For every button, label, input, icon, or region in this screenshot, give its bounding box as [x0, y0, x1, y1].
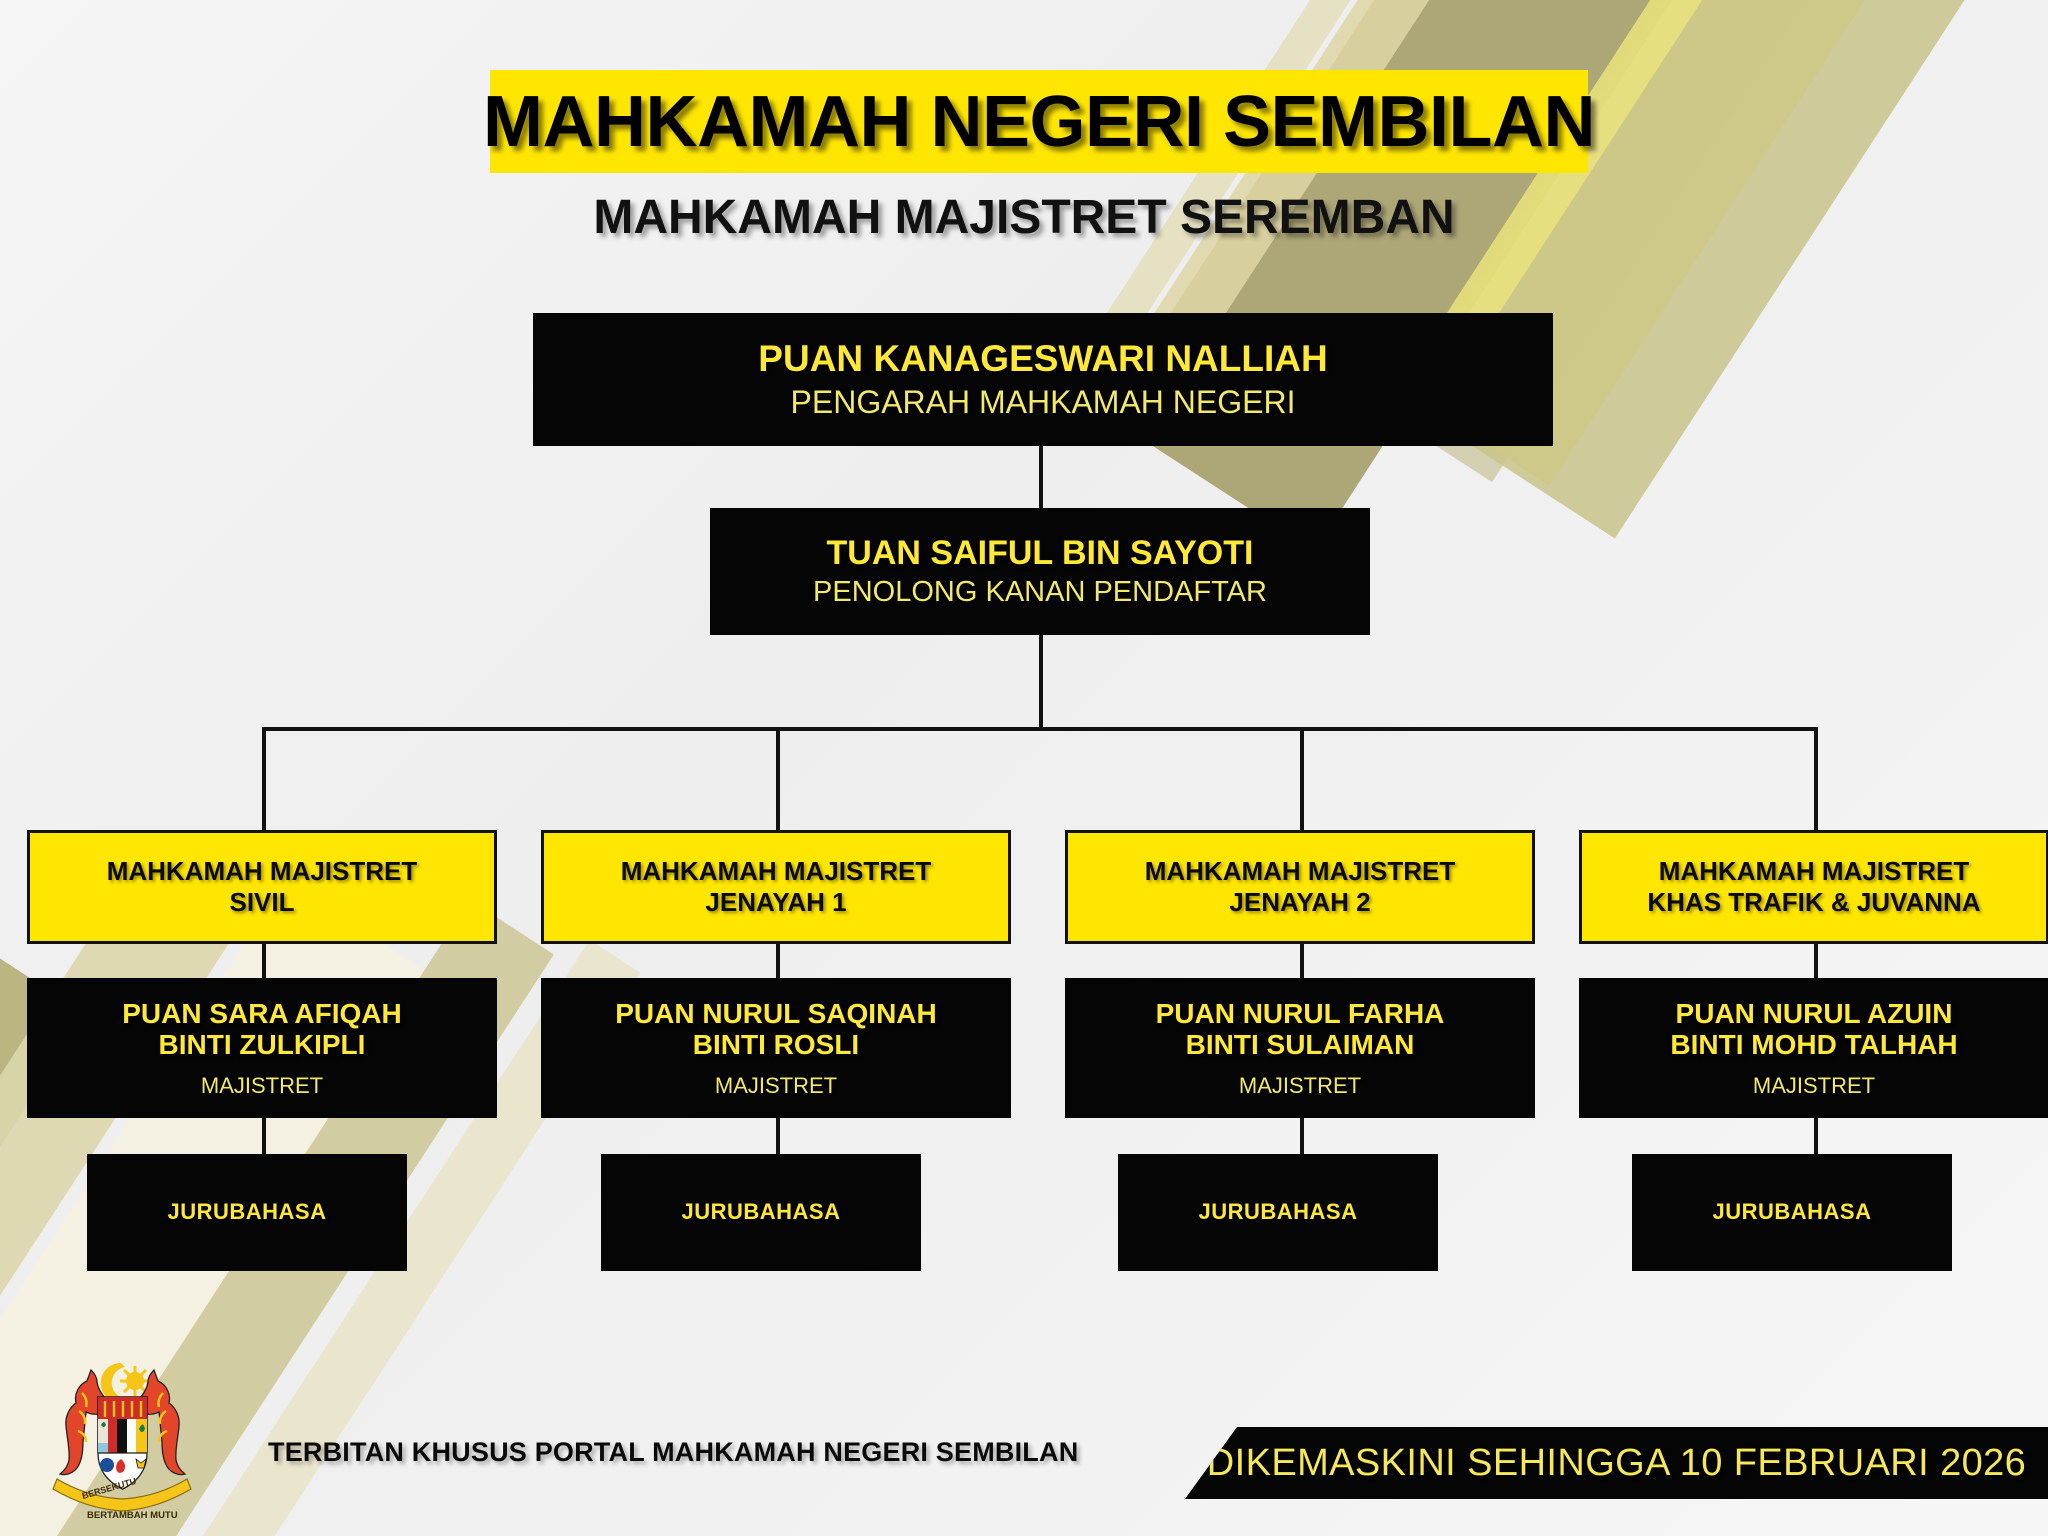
- page-title: MAHKAMAH NEGERI SEMBILAN: [483, 81, 1595, 163]
- title-banner: MAHKAMAH NEGERI SEMBILAN: [490, 70, 1588, 173]
- magistrate-1-line1: PUAN SARA AFIQAH: [122, 998, 401, 1029]
- registrar-name: TUAN SAIFUL BIN SAYOTI: [827, 534, 1254, 572]
- updated-text: DIKEMASKINI SEHINGGA 10 FEBRUARI 2026: [1207, 1442, 2026, 1485]
- magistrate-1-name: PUAN SARA AFIQAH BINTI ZULKIPLI: [122, 998, 401, 1061]
- connector-magistrate-support-2: [776, 1118, 780, 1158]
- magistrate-2-name: PUAN NURUL SAQINAH BINTI ROSLI: [615, 998, 937, 1061]
- connector-magistrate-support-3: [1300, 1118, 1304, 1158]
- node-magistrate-3[interactable]: PUAN NURUL FARHA BINTI SULAIMAN MAJISTRE…: [1065, 978, 1535, 1118]
- magistrate-3-role: MAJISTRET: [1239, 1073, 1361, 1098]
- connector-drop-branch-1: [262, 727, 266, 830]
- court-3-label: MAHKAMAH MAJISTRET JENAYAH 2: [1145, 856, 1456, 918]
- registrar-role: PENOLONG KANAN PENDAFTAR: [813, 576, 1267, 609]
- court-2-line2: JENAYAH 1: [705, 887, 846, 917]
- support-1-label: JURUBAHASA: [167, 1200, 326, 1225]
- connector-court-magistrate-4: [1814, 944, 1818, 978]
- node-court-3[interactable]: MAHKAMAH MAJISTRET JENAYAH 2: [1065, 830, 1535, 944]
- footer-publisher: TERBITAN KHUSUS PORTAL MAHKAMAH NEGERI S…: [268, 1437, 1078, 1468]
- org-chart-poster: MAHKAMAH NEGERI SEMBILAN MAHKAMAH MAJIST…: [0, 0, 2048, 1536]
- connector-court-magistrate-1: [262, 944, 266, 978]
- magistrate-3-line2: BINTI SULAIMAN: [1186, 1029, 1415, 1060]
- node-magistrate-4[interactable]: PUAN NURUL AZUIN BINTI MOHD TALHAH MAJIS…: [1579, 978, 2048, 1118]
- node-court-4[interactable]: MAHKAMAH MAJISTRET KHAS TRAFIK & JUVANNA: [1579, 830, 2048, 944]
- magistrate-2-line2: BINTI ROSLI: [693, 1029, 859, 1060]
- malaysia-coat-of-arms-icon: BERSEKUTU BERTAMBAH MUTU: [35, 1355, 210, 1525]
- court-2-label: MAHKAMAH MAJISTRET JENAYAH 1: [621, 856, 932, 918]
- court-4-label: MAHKAMAH MAJISTRET KHAS TRAFIK & JUVANNA: [1647, 856, 1980, 918]
- connector-drop-branch-2: [776, 727, 780, 830]
- connector-director-registrar: [1039, 446, 1043, 508]
- connector-registrar-drop: [1039, 635, 1043, 730]
- node-magistrate-1[interactable]: PUAN SARA AFIQAH BINTI ZULKIPLI MAJISTRE…: [27, 978, 497, 1118]
- node-registrar[interactable]: TUAN SAIFUL BIN SAYOTI PENOLONG KANAN PE…: [710, 508, 1370, 635]
- magistrate-2-role: MAJISTRET: [715, 1073, 837, 1098]
- node-court-1[interactable]: MAHKAMAH MAJISTRET SIVIL: [27, 830, 497, 944]
- connector-bus: [262, 727, 1818, 731]
- magistrate-2-line1: PUAN NURUL SAQINAH: [615, 998, 937, 1029]
- magistrate-4-line2: BINTI MOHD TALHAH: [1670, 1029, 1957, 1060]
- magistrate-3-line1: PUAN NURUL FARHA: [1156, 998, 1445, 1029]
- node-support-4[interactable]: JURUBAHASA: [1632, 1154, 1952, 1271]
- node-magistrate-2[interactable]: PUAN NURUL SAQINAH BINTI ROSLI MAJISTRET: [541, 978, 1011, 1118]
- node-support-2[interactable]: JURUBAHASA: [601, 1154, 921, 1271]
- connector-drop-branch-3: [1300, 727, 1304, 830]
- director-role: PENGARAH MAHKAMAH NEGERI: [791, 384, 1296, 421]
- court-1-line1: MAHKAMAH MAJISTRET: [107, 856, 418, 886]
- node-court-2[interactable]: MAHKAMAH MAJISTRET JENAYAH 1: [541, 830, 1011, 944]
- page-subtitle: MAHKAMAH MAJISTRET SEREMBAN: [0, 190, 2048, 245]
- connector-magistrate-support-1: [262, 1118, 266, 1158]
- support-3-label: JURUBAHASA: [1198, 1200, 1357, 1225]
- node-support-1[interactable]: JURUBAHASA: [87, 1154, 407, 1271]
- node-director[interactable]: PUAN KANAGESWARI NALLIAH PENGARAH MAHKAM…: [533, 313, 1553, 446]
- court-4-line2: KHAS TRAFIK & JUVANNA: [1647, 887, 1980, 917]
- support-4-label: JURUBAHASA: [1712, 1200, 1871, 1225]
- magistrate-4-line1: PUAN NURUL AZUIN: [1676, 998, 1953, 1029]
- court-3-line1: MAHKAMAH MAJISTRET: [1145, 856, 1456, 886]
- magistrate-4-name: PUAN NURUL AZUIN BINTI MOHD TALHAH: [1670, 998, 1957, 1061]
- director-name: PUAN KANAGESWARI NALLIAH: [758, 338, 1327, 379]
- support-2-label: JURUBAHASA: [681, 1200, 840, 1225]
- court-1-label: MAHKAMAH MAJISTRET SIVIL: [107, 856, 418, 918]
- court-4-line1: MAHKAMAH MAJISTRET: [1659, 856, 1970, 886]
- connector-drop-branch-4: [1814, 727, 1818, 830]
- connector-magistrate-support-4: [1814, 1118, 1818, 1158]
- court-1-line2: SIVIL: [229, 887, 294, 917]
- magistrate-3-name: PUAN NURUL FARHA BINTI SULAIMAN: [1156, 998, 1445, 1061]
- updated-banner: DIKEMASKINI SEHINGGA 10 FEBRUARI 2026: [1185, 1427, 2048, 1499]
- node-support-3[interactable]: JURUBAHASA: [1118, 1154, 1438, 1271]
- connector-court-magistrate-3: [1300, 944, 1304, 978]
- court-2-line1: MAHKAMAH MAJISTRET: [621, 856, 932, 886]
- crest-motto-bottom: BERTAMBAH MUTU: [87, 1510, 178, 1521]
- connector-court-magistrate-2: [776, 944, 780, 978]
- magistrate-1-role: MAJISTRET: [201, 1073, 323, 1098]
- magistrate-1-line2: BINTI ZULKIPLI: [159, 1029, 366, 1060]
- court-3-line2: JENAYAH 2: [1229, 887, 1370, 917]
- magistrate-4-role: MAJISTRET: [1753, 1073, 1875, 1098]
